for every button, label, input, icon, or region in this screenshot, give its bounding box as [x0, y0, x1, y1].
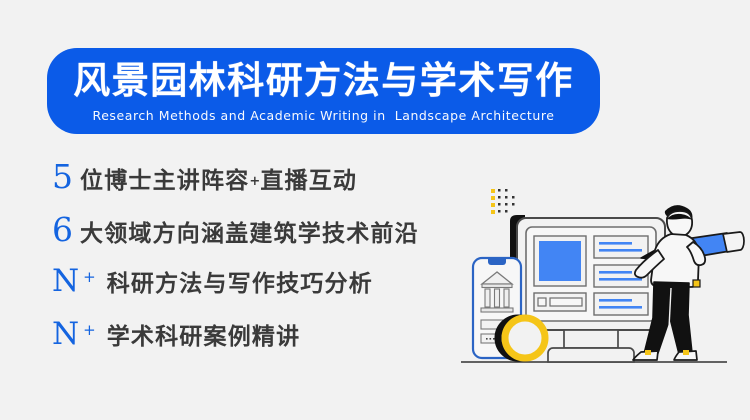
list-item: 5 位博士主讲阵容+直播互动	[52, 160, 472, 213]
list-item: N + 科研方法与写作技巧分析	[52, 266, 472, 319]
bullet-text-1: 位博士主讲阵容+直播互动	[80, 169, 357, 192]
image-placeholder-fill	[539, 241, 581, 281]
bullet-marker-4: N	[52, 319, 79, 350]
bullet-marker-2: 6	[52, 213, 74, 246]
yellow-ring	[498, 318, 545, 358]
bullet-marker-1: 5	[52, 160, 74, 193]
bullet-plus-3: +	[83, 270, 96, 285]
banner-subtitle: Research Methods and Academic Writing in…	[93, 108, 555, 123]
list-item: N + 学术科研案例精讲	[52, 319, 472, 372]
monitor-neck	[564, 330, 618, 348]
form-row-field	[550, 298, 582, 306]
title-banner: 风景园林科研方法与学术写作 Research Methods and Acade…	[47, 48, 600, 134]
text-card-block	[594, 236, 648, 258]
bullet-text-2: 大领域方向涵盖建筑学技术前沿	[80, 222, 419, 245]
illustration	[455, 178, 750, 378]
form-row-checkbox	[538, 298, 546, 306]
monitor-base	[548, 348, 634, 362]
bullet-plus-4: +	[83, 323, 96, 338]
dot-grid-decoration	[491, 189, 515, 214]
feature-list: 5 位博士主讲阵容+直播互动 6 大领域方向涵盖建筑学技术前沿 N + 科研方法…	[52, 160, 472, 372]
text-card-block	[594, 293, 648, 315]
bullet-text-3: 科研方法与写作技巧分析	[107, 272, 373, 295]
bullet-text-4: 学术科研案例精讲	[107, 325, 301, 348]
list-item: 6 大领域方向涵盖建筑学技术前沿	[52, 213, 472, 266]
banner-title: 风景园林科研方法与学术写作	[73, 62, 574, 99]
bullet-marker-3: N	[52, 266, 79, 297]
poster-canvas: 风景园林科研方法与学术写作 Research Methods and Acade…	[0, 0, 750, 420]
